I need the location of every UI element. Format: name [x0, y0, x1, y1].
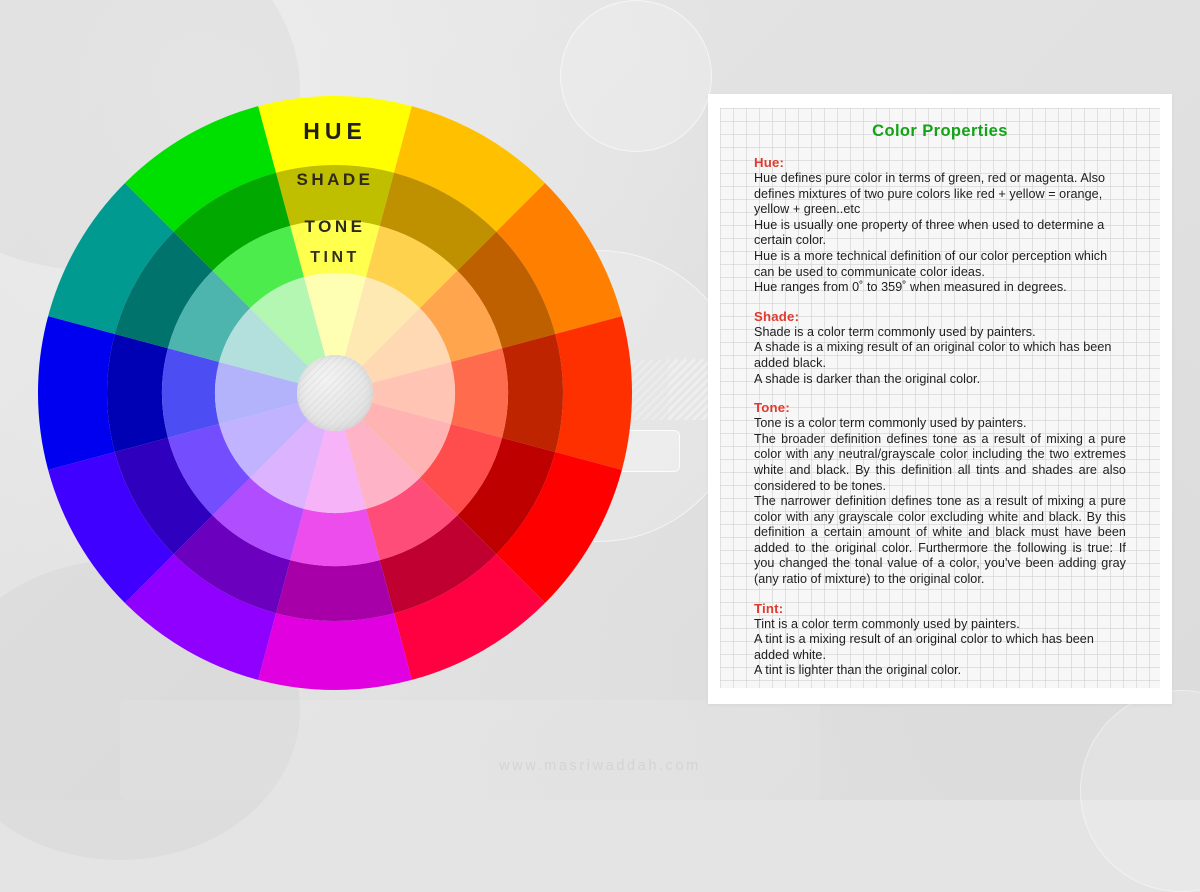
property-paragraph: The narrower definition defines tone as … — [754, 494, 1126, 588]
property-paragraph: A shade is a mixing result of an origina… — [754, 340, 1126, 371]
property-paragraph: A tint is lighter than the original colo… — [754, 663, 1126, 679]
wheel-segment-magenta-tone — [290, 509, 380, 566]
property-paragraph: Hue defines pure color in terms of green… — [754, 171, 1126, 218]
wheel-label-hue: HUE — [38, 118, 632, 145]
wheel-segment-blue-hue — [38, 316, 115, 470]
wheel-segment-red-orange-tone — [451, 348, 508, 438]
property-section: Shade:Shade is a color term commonly use… — [754, 309, 1126, 387]
property-paragraph: Shade is a color term commonly used by p… — [754, 325, 1126, 341]
property-paragraph: The broader definition defines tone as a… — [754, 432, 1126, 494]
panel-title: Color Properties — [754, 122, 1126, 141]
color-wheel: HUE SHADE TONE TINT — [38, 96, 632, 690]
wheel-segment-blue-shade — [107, 334, 168, 452]
wheel-segment-blue-tone — [162, 348, 219, 438]
property-paragraph: A shade is darker than the original colo… — [754, 372, 1126, 388]
property-paragraph: A tint is a mixing result of an original… — [754, 632, 1126, 663]
property-body: Tone is a color term commonly used by pa… — [754, 416, 1126, 588]
wheel-segment-red-orange-shade — [502, 334, 563, 452]
property-body: Shade is a color term commonly used by p… — [754, 325, 1126, 387]
panel-grid-paper: Color Properties Hue:Hue defines pure co… — [720, 108, 1160, 688]
wheel-label-tone: TONE — [38, 217, 632, 237]
property-body: Tint is a color term commonly used by pa… — [754, 617, 1126, 679]
panel-sections: Hue:Hue defines pure color in terms of g… — [754, 155, 1126, 679]
site-watermark: www.masriwaddah.com — [0, 758, 1200, 774]
property-paragraph: Tint is a color term commonly used by pa… — [754, 617, 1126, 633]
property-paragraph: Hue ranges from 0˚ to 359˚ when measured… — [754, 280, 1126, 296]
property-heading: Shade: — [754, 309, 1126, 324]
wheel-label-tint: TINT — [38, 249, 632, 267]
property-body: Hue defines pure color in terms of green… — [754, 171, 1126, 296]
property-section: Tone:Tone is a color term commonly used … — [754, 400, 1126, 588]
wheel-segment-red-orange-hue — [555, 316, 632, 470]
property-paragraph: Hue is a more technical definition of ou… — [754, 249, 1126, 280]
property-heading: Tone: — [754, 400, 1126, 415]
wheel-segment-magenta-hue — [258, 613, 412, 690]
property-section: Hue:Hue defines pure color in terms of g… — [754, 155, 1126, 296]
property-section: Tint:Tint is a color term commonly used … — [754, 601, 1126, 679]
property-heading: Tint: — [754, 601, 1126, 616]
wheel-segment-magenta-shade — [276, 560, 394, 621]
property-paragraph: Tone is a color term commonly used by pa… — [754, 416, 1126, 432]
property-heading: Hue: — [754, 155, 1126, 170]
property-paragraph: Hue is usually one property of three whe… — [754, 218, 1126, 249]
wheel-label-shade: SHADE — [38, 170, 632, 190]
color-properties-panel: Color Properties Hue:Hue defines pure co… — [708, 94, 1172, 704]
wheel-hub-watermark — [297, 355, 373, 431]
